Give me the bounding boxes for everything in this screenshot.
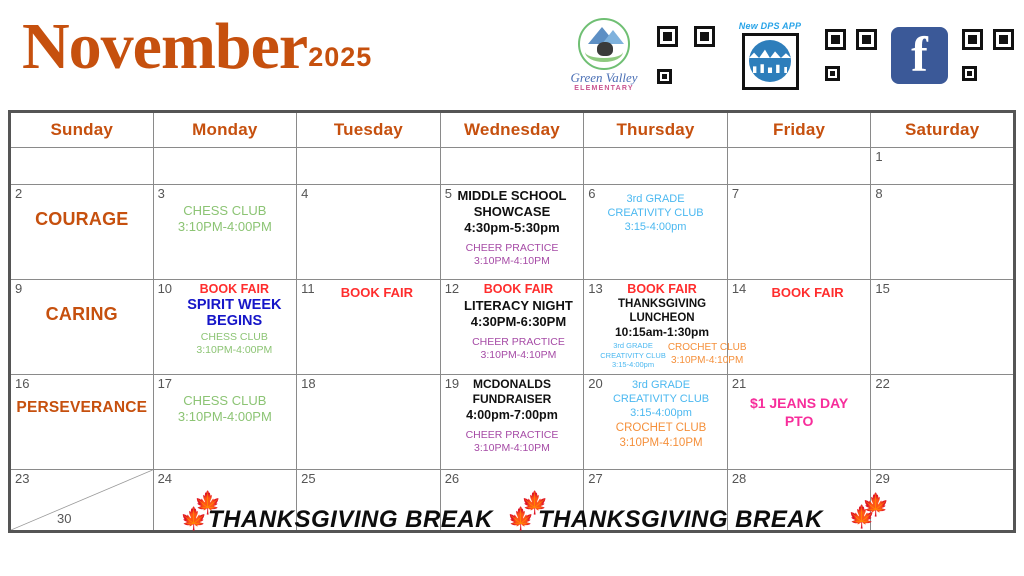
calendar-cell[interactable] [153,148,297,185]
day-number: 29 [875,471,889,487]
day-number: 21 [732,376,746,392]
day-number: 13 [588,281,602,297]
day-number: 5 [445,186,452,202]
event-title-time: 4:30pm-5:30pm [444,220,581,235]
event-spirit-week-line2: BEGINS [176,314,294,329]
calendar-cell[interactable]: 16 PERSEVERANCE [10,375,154,470]
qr-code-school-icon[interactable] [655,24,717,86]
day-number: 4 [301,186,308,202]
weekday-header-friday: Friday [727,112,871,148]
event-title-line2: LUNCHEON [600,312,724,325]
calendar-cell[interactable]: 11 BOOK FAIR [297,280,441,375]
day-number: 24 [158,471,172,487]
day-number: 28 [732,471,746,487]
calendar-header-row: Sunday Monday Tuesday Wednesday Thursday… [10,112,1015,148]
day-number: 16 [15,376,29,392]
event-creativity-club-line1: 3rd GRADE [600,342,666,351]
calendar-cell[interactable]: 15 [871,280,1015,375]
event-creativity-club-line1: 3rd GRADE [598,379,724,392]
event-title-line1: LITERACY NIGHT [457,298,581,313]
calendar-cell[interactable]: 25 [297,470,441,532]
event-creativity-club-line1: 3rd GRADE [587,193,724,206]
dps-app-label: New DPS APP [729,21,811,31]
event-book-fair: BOOK FAIR [600,282,724,297]
calendar-cell[interactable]: 3 CHESS CLUB 3:10PM-4:00PM [153,185,297,280]
year-label: 2025 [308,42,372,73]
event-book-fair: BOOK FAIR [748,285,868,300]
event-value-word: CARING [14,304,150,325]
event-chess-club-time: 3:10PM-4:00PM [157,219,294,234]
calendar-cell[interactable]: 4 [297,185,441,280]
event-creativity-club-time: 3:15-4:00pm [600,361,666,370]
day-number: 14 [732,281,746,297]
calendar-cell[interactable]: 28 [727,470,871,532]
day-number: 3 [158,186,165,202]
event-title-line1: MIDDLE SCHOOL [444,188,581,203]
day-events: MCDONALDS FUNDRAISER 4:00pm-7:00pm CHEER… [441,375,584,455]
event-title-time: 10:15am-1:30pm [600,326,724,340]
day-number: 10 [158,281,172,297]
calendar-cell[interactable]: 12 BOOK FAIR LITERACY NIGHT 4:30PM-6:30P… [440,280,584,375]
event-book-fair: BOOK FAIR [317,285,437,300]
day-events: BOOK FAIR THANKSGIVING LUNCHEON 10:15am-… [584,280,727,371]
mountain-bear-icon [578,18,630,70]
day-number: 22 [875,376,889,392]
day-number: 2 [15,186,22,202]
day-number: 6 [588,186,595,202]
event-cheer-practice: CHEER PRACTICE [444,242,581,254]
calendar-week-row: 1 [10,148,1015,185]
split-diagonal-line [11,470,153,530]
calendar-cell[interactable] [727,148,871,185]
event-cheer-practice-time: 3:10PM-4:10PM [444,255,581,267]
event-cheer-practice: CHEER PRACTICE [457,336,581,348]
day-events: CHESS CLUB 3:10PM-4:00PM [154,185,297,234]
day-number: 18 [301,376,315,392]
event-title-time: 4:00pm-7:00pm [444,408,581,423]
day-events: BOOK FAIR LITERACY NIGHT 4:30PM-6:30PM C… [441,280,584,361]
day-events: BOOK FAIR [297,280,440,300]
event-chess-club: CHESS CLUB [157,203,294,218]
event-value-word: COURAGE [14,209,150,230]
day-events: COURAGE [11,185,153,230]
day-number: 17 [158,376,172,392]
weekday-header-tuesday: Tuesday [297,112,441,148]
event-chess-club: CHESS CLUB [176,331,294,343]
calendar-cell[interactable]: 10 BOOK FAIR SPIRIT WEEK BEGINS CHESS CL… [153,280,297,375]
calendar-week-row: 2 COURAGE 3 CHESS CLUB 3:10PM-4:00PM 4 5… [10,185,1015,280]
dps-app-block: New DPS APP [729,21,811,90]
weekday-header-sunday: Sunday [10,112,154,148]
event-crochet-club: CROCHET CLUB [598,422,724,435]
event-creativity-club-line2: CREATIVITY CLUB [587,207,724,220]
school-subtitle-label: ELEMENTARY [565,85,643,92]
calendar-cell[interactable] [440,148,584,185]
day-number: 1 [875,149,882,165]
day-events: 3rd GRADE CREATIVITY CLUB 3:15-4:00pm CR… [584,375,727,450]
event-title-line1: THANKSGIVING [600,298,724,311]
calendar-cell[interactable]: 24 [153,470,297,532]
facebook-icon[interactable] [891,27,948,84]
event-jeans-day-line1: $1 JEANS DAY [731,395,868,412]
calendar-cell[interactable]: 6 3rd GRADE CREATIVITY CLUB 3:15-4:00pm [584,185,728,280]
calendar-cell[interactable] [297,148,441,185]
event-chess-club-time: 3:10PM-4:00PM [157,409,294,424]
event-cheer-practice-time: 3:10PM-4:10PM [444,442,581,454]
calendar-cell-split[interactable]: 23 30 [10,470,154,532]
calendar-cell[interactable]: 9 CARING [10,280,154,375]
event-value-word: PERSEVERANCE [14,399,150,417]
event-chess-club-time: 3:10PM-4:00PM [176,344,294,356]
event-jeans-day-line2: PTO [731,413,868,430]
day-events: CARING [11,280,153,325]
calendar-cell[interactable]: 2 COURAGE [10,185,154,280]
calendar-cell[interactable] [584,148,728,185]
day-events: 3rd GRADE CREATIVITY CLUB 3:15-4:00pm [584,185,727,233]
event-chess-club: CHESS CLUB [157,393,294,408]
day-events: PERSEVERANCE [11,375,153,417]
day-number: 11 [301,281,315,297]
event-book-fair: BOOK FAIR [457,282,581,297]
event-title-line1: MCDONALDS [444,378,581,392]
dps-app-icon[interactable] [742,33,799,90]
calendar-cell[interactable]: 17 CHESS CLUB 3:10PM-4:00PM [153,375,297,470]
header-logo-strip: Green Valley ELEMENTARY New DPS APP [565,6,1016,104]
calendar-cell[interactable]: 22 [871,375,1015,470]
weekday-header-wednesday: Wednesday [440,112,584,148]
calendar-cell[interactable]: 7 [727,185,871,280]
event-spirit-week-line1: SPIRIT WEEK [176,298,294,313]
calendar-week-row: 9 CARING 10 BOOK FAIR SPIRIT WEEK BEGINS… [10,280,1015,375]
event-creativity-club-line2: CREATIVITY CLUB [598,393,724,406]
day-events: BOOK FAIR [728,280,871,300]
calendar-cell[interactable]: 8 [871,185,1015,280]
day-number: 27 [588,471,602,487]
event-book-fair: BOOK FAIR [176,282,294,297]
page-title: November 2025 [22,14,372,80]
calendar-cell[interactable]: 27 [584,470,728,532]
calendar-cell[interactable]: 1 [871,148,1015,185]
day-number: 7 [732,186,739,202]
calendar-cell[interactable]: 26 [440,470,584,532]
day-number: 25 [301,471,315,487]
day-events: CHESS CLUB 3:10PM-4:00PM [154,375,297,424]
event-crochet-club-time: 3:10PM-4:10PM [598,437,724,450]
day-events: MIDDLE SCHOOL SHOWCASE 4:30pm-5:30pm CHE… [441,185,584,268]
green-valley-logo: Green Valley ELEMENTARY [565,18,643,92]
calendar-cell[interactable]: 29 [871,470,1015,532]
calendar-cell[interactable]: 18 [297,375,441,470]
day-number: 12 [445,281,459,297]
weekday-header-monday: Monday [153,112,297,148]
day-number: 9 [15,281,22,297]
event-creativity-club-line2: CREATIVITY CLUB [600,352,666,361]
event-creativity-club-time: 3:15-4:00pm [587,221,724,234]
day-number: 15 [875,281,889,297]
event-creativity-club-time: 3:15-4:00pm [598,407,724,420]
calendar-cell[interactable]: 14 BOOK FAIR [727,280,871,375]
day-number: 19 [445,376,459,392]
event-title-line2: SHOWCASE [444,204,581,219]
calendar-cell[interactable]: 21 $1 JEANS DAY PTO [727,375,871,470]
calendar-grid: Sunday Monday Tuesday Wednesday Thursday… [8,110,1016,533]
day-number: 8 [875,186,882,202]
calendar-week-row: 16 PERSEVERANCE 17 CHESS CLUB 3:10PM-4:0… [10,375,1015,470]
weekday-header-thursday: Thursday [584,112,728,148]
month-label: November [22,14,307,80]
day-number: 26 [445,471,459,487]
qr-code-facebook-icon[interactable] [960,27,1016,83]
page-header: November 2025 Green Valley ELEMENTARY Ne… [0,0,1024,110]
day-events: $1 JEANS DAY PTO [728,375,871,430]
event-title-line2: FUNDRAISER [444,393,581,407]
calendar-cell[interactable]: 20 3rd GRADE CREATIVITY CLUB 3:15-4:00pm… [584,375,728,470]
event-title-time: 4:30PM-6:30PM [457,314,581,329]
day-number: 20 [588,376,602,392]
calendar-cell[interactable]: 13 BOOK FAIR THANKSGIVING LUNCHEON 10:15… [584,280,728,375]
school-name-label: Green Valley [565,71,643,85]
calendar-cell[interactable]: 5 MIDDLE SCHOOL SHOWCASE 4:30pm-5:30pm C… [440,185,584,280]
qr-code-dps-app-icon[interactable] [823,27,879,83]
day-number-alt: 30 [57,511,71,526]
event-cheer-practice-time: 3:10PM-4:10PM [457,349,581,361]
calendar-week-row: 23 30 24 25 26 27 28 29 [10,470,1015,532]
event-cheer-practice: CHEER PRACTICE [444,429,581,441]
weekday-header-saturday: Saturday [871,112,1015,148]
day-events: BOOK FAIR SPIRIT WEEK BEGINS CHESS CLUB … [154,280,297,356]
calendar-cell[interactable] [10,148,154,185]
calendar-cell[interactable]: 19 MCDONALDS FUNDRAISER 4:00pm-7:00pm CH… [440,375,584,470]
